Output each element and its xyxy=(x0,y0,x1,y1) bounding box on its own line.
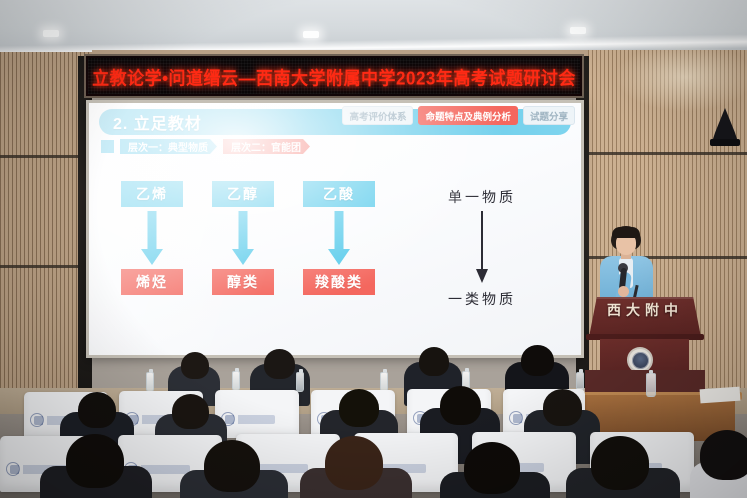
layer-bullet-icon xyxy=(101,140,114,153)
downlight-1 xyxy=(43,30,59,37)
audience-head xyxy=(78,392,116,428)
flow-column-3: 乙酸 羧酸类 xyxy=(303,181,375,295)
slide-title: 2. 立足教材 xyxy=(113,110,202,134)
projection-screen-frame: 2. 立足教材 高考评价体系 命题特点及典例分析 试题分享 层次一：典型物质 层… xyxy=(86,100,584,358)
led-banner-text: 立教论学•问道缙云—西南大学附属中学2023年高考试题研讨会 xyxy=(92,63,576,90)
flow-category-1: 烯烃 xyxy=(121,269,183,295)
summary-to-label: 一类物质 xyxy=(407,289,557,309)
chemistry-flow-diagram: 乙烯 烯烃 乙醇 醇类 乙酸 羧酸类 xyxy=(111,181,401,321)
water-bottle xyxy=(232,371,240,391)
flow-arrow-1-icon xyxy=(121,207,183,269)
audience-head xyxy=(543,389,582,426)
wall-seam-right-1 xyxy=(588,152,747,155)
podium-label: 西大附中 xyxy=(589,300,701,320)
wall-speaker-base xyxy=(710,139,740,146)
projection-screen: 2. 立足教材 高考评价体系 命题特点及典例分析 试题分享 层次一：典型物质 层… xyxy=(89,103,581,355)
audience-head xyxy=(419,347,449,376)
audience-head xyxy=(204,440,260,492)
layer-chevron-row: 层次一：典型物质 层次二：官能团 xyxy=(101,139,310,154)
flow-substance-2: 乙醇 xyxy=(212,181,274,207)
tab-evaluation-system[interactable]: 高考评价体系 xyxy=(342,106,413,125)
layer-chevron-1: 层次一：典型物质 xyxy=(120,139,217,154)
flow-column-1: 乙烯 烯烃 xyxy=(121,181,183,295)
chair-logo-text xyxy=(225,415,275,424)
downlight-2 xyxy=(303,31,319,38)
flow-arrow-2-icon xyxy=(212,207,274,269)
school-crest-inner xyxy=(632,352,649,369)
audience-head xyxy=(181,352,209,379)
summary-group: 单一物质 一类物质 xyxy=(407,187,557,309)
layer-chevron-2: 层次二：官能团 xyxy=(223,139,310,154)
water-bottle xyxy=(380,372,388,392)
led-banner-screen: 立教论学•问道缙云—西南大学附属中学2023年高考试题研讨会 xyxy=(88,58,580,94)
audience-head xyxy=(521,345,554,376)
audience-head xyxy=(339,389,379,427)
summary-arrow-icon xyxy=(407,211,557,287)
speaker-hair-fringe xyxy=(612,227,640,238)
speaker-hand xyxy=(618,286,629,297)
flow-category-3: 羧酸类 xyxy=(303,269,375,295)
tab-question-features[interactable]: 命题特点及典例分析 xyxy=(418,106,518,125)
water-bottle-table xyxy=(646,373,656,397)
flow-substance-3: 乙酸 xyxy=(303,181,375,207)
audience-chair xyxy=(215,390,299,438)
flow-category-2: 醇类 xyxy=(212,269,274,295)
water-bottle xyxy=(146,372,154,392)
audience-head xyxy=(264,349,295,379)
downlight-3 xyxy=(570,27,586,34)
water-bottle xyxy=(296,372,304,392)
audience-head xyxy=(440,386,481,425)
flow-column-2: 乙醇 醇类 xyxy=(212,181,274,295)
paper-sheet xyxy=(700,387,741,404)
audience-head xyxy=(325,436,383,490)
audience-head xyxy=(66,434,124,488)
flow-arrow-3-icon xyxy=(303,207,375,269)
tab-question-sharing[interactable]: 试题分享 xyxy=(523,106,575,125)
summary-from-label: 单一物质 xyxy=(407,187,557,207)
audience-head xyxy=(700,430,747,480)
slide-tab-group: 高考评价体系 命题特点及典例分析 试题分享 xyxy=(342,106,575,125)
audience-head xyxy=(591,436,649,490)
audience-head xyxy=(464,442,520,494)
lecture-hall-photo: 立教论学•问道缙云—西南大学附属中学2023年高考试题研讨会 2. 立足教材 高… xyxy=(0,0,747,498)
audience-head xyxy=(172,394,209,429)
led-banner: 立教论学•问道缙云—西南大学附属中学2023年高考试题研讨会 xyxy=(84,54,584,98)
flow-substance-1: 乙烯 xyxy=(121,181,183,207)
